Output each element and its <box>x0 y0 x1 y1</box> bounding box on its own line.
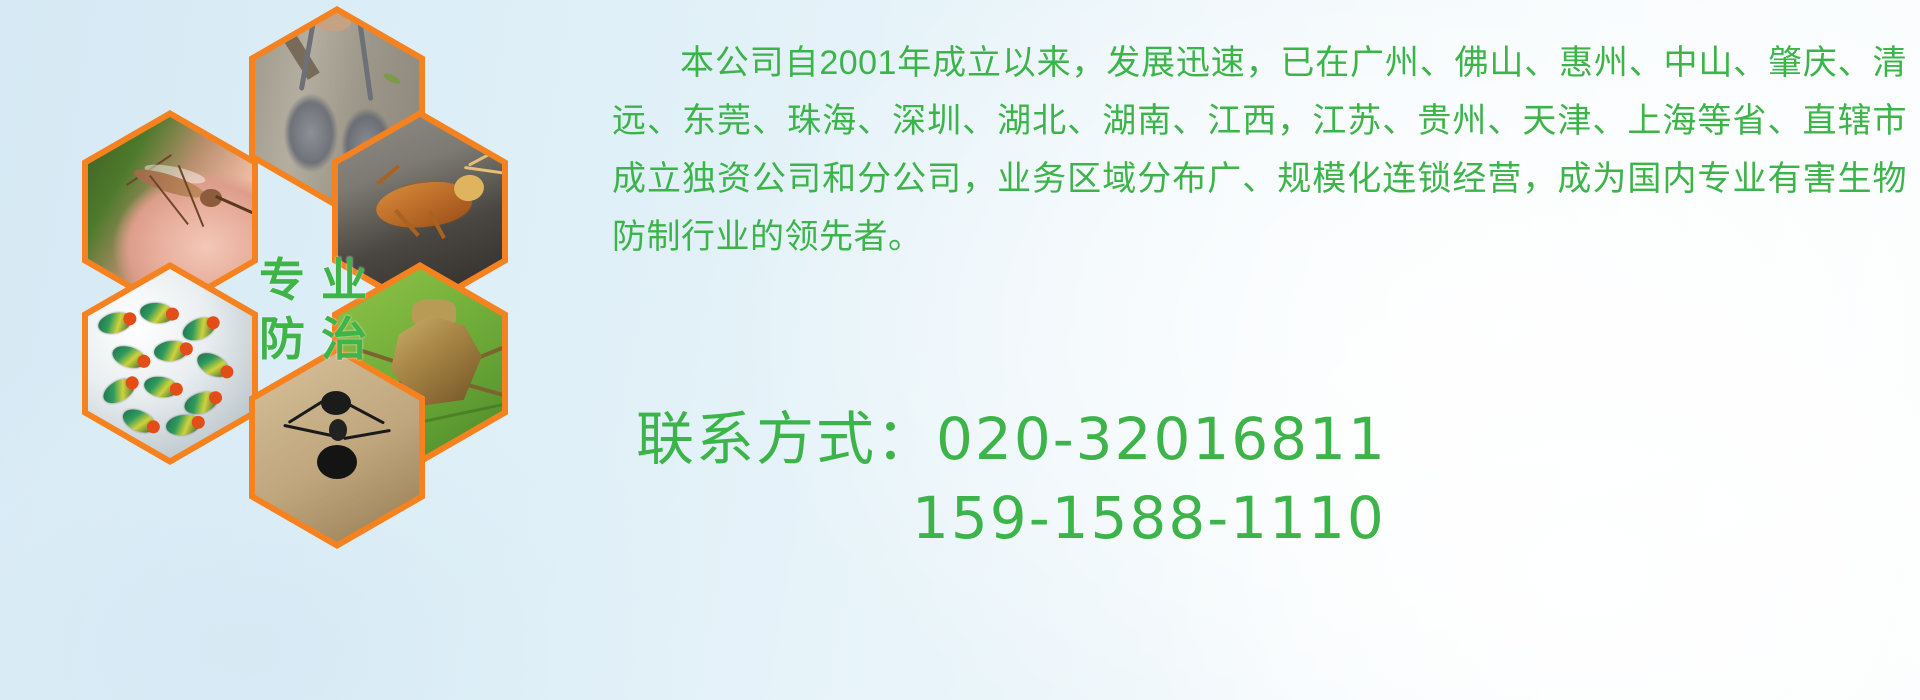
hex-cell-center-slogan: 专业 防治 <box>207 188 419 432</box>
contact-primary-line: 联系方式：020-32016811 <box>622 400 1902 479</box>
slogan-line-1: 专业 <box>243 251 383 310</box>
contact-block: 联系方式：020-32016811 159-1588-1110 <box>622 400 1902 558</box>
contact-secondary-line: 159-1588-1110 <box>622 479 1902 558</box>
company-intro-paragraph: 本公司自2001年成立以来，发展迅速，已在广州、佛山、惠州、中山、肇庆、清远、东… <box>612 34 1907 266</box>
slogan-line-2: 防治 <box>243 310 383 369</box>
content-column: 本公司自2001年成立以来，发展迅速，已在广州、佛山、惠州、中山、肇庆、清远、东… <box>612 0 1912 700</box>
pest-control-banner: 专业 防治 本公司自2001年成立以来，发展迅速，已在广州、佛山、惠州、中山、肇… <box>0 0 1920 700</box>
phone-primary[interactable]: 020-32016811 <box>936 405 1387 473</box>
phone-secondary[interactable]: 159-1588-1110 <box>912 484 1386 552</box>
contact-label: 联系方式： <box>636 407 936 472</box>
honeycomb-gallery: 专业 防治 <box>82 6 592 576</box>
